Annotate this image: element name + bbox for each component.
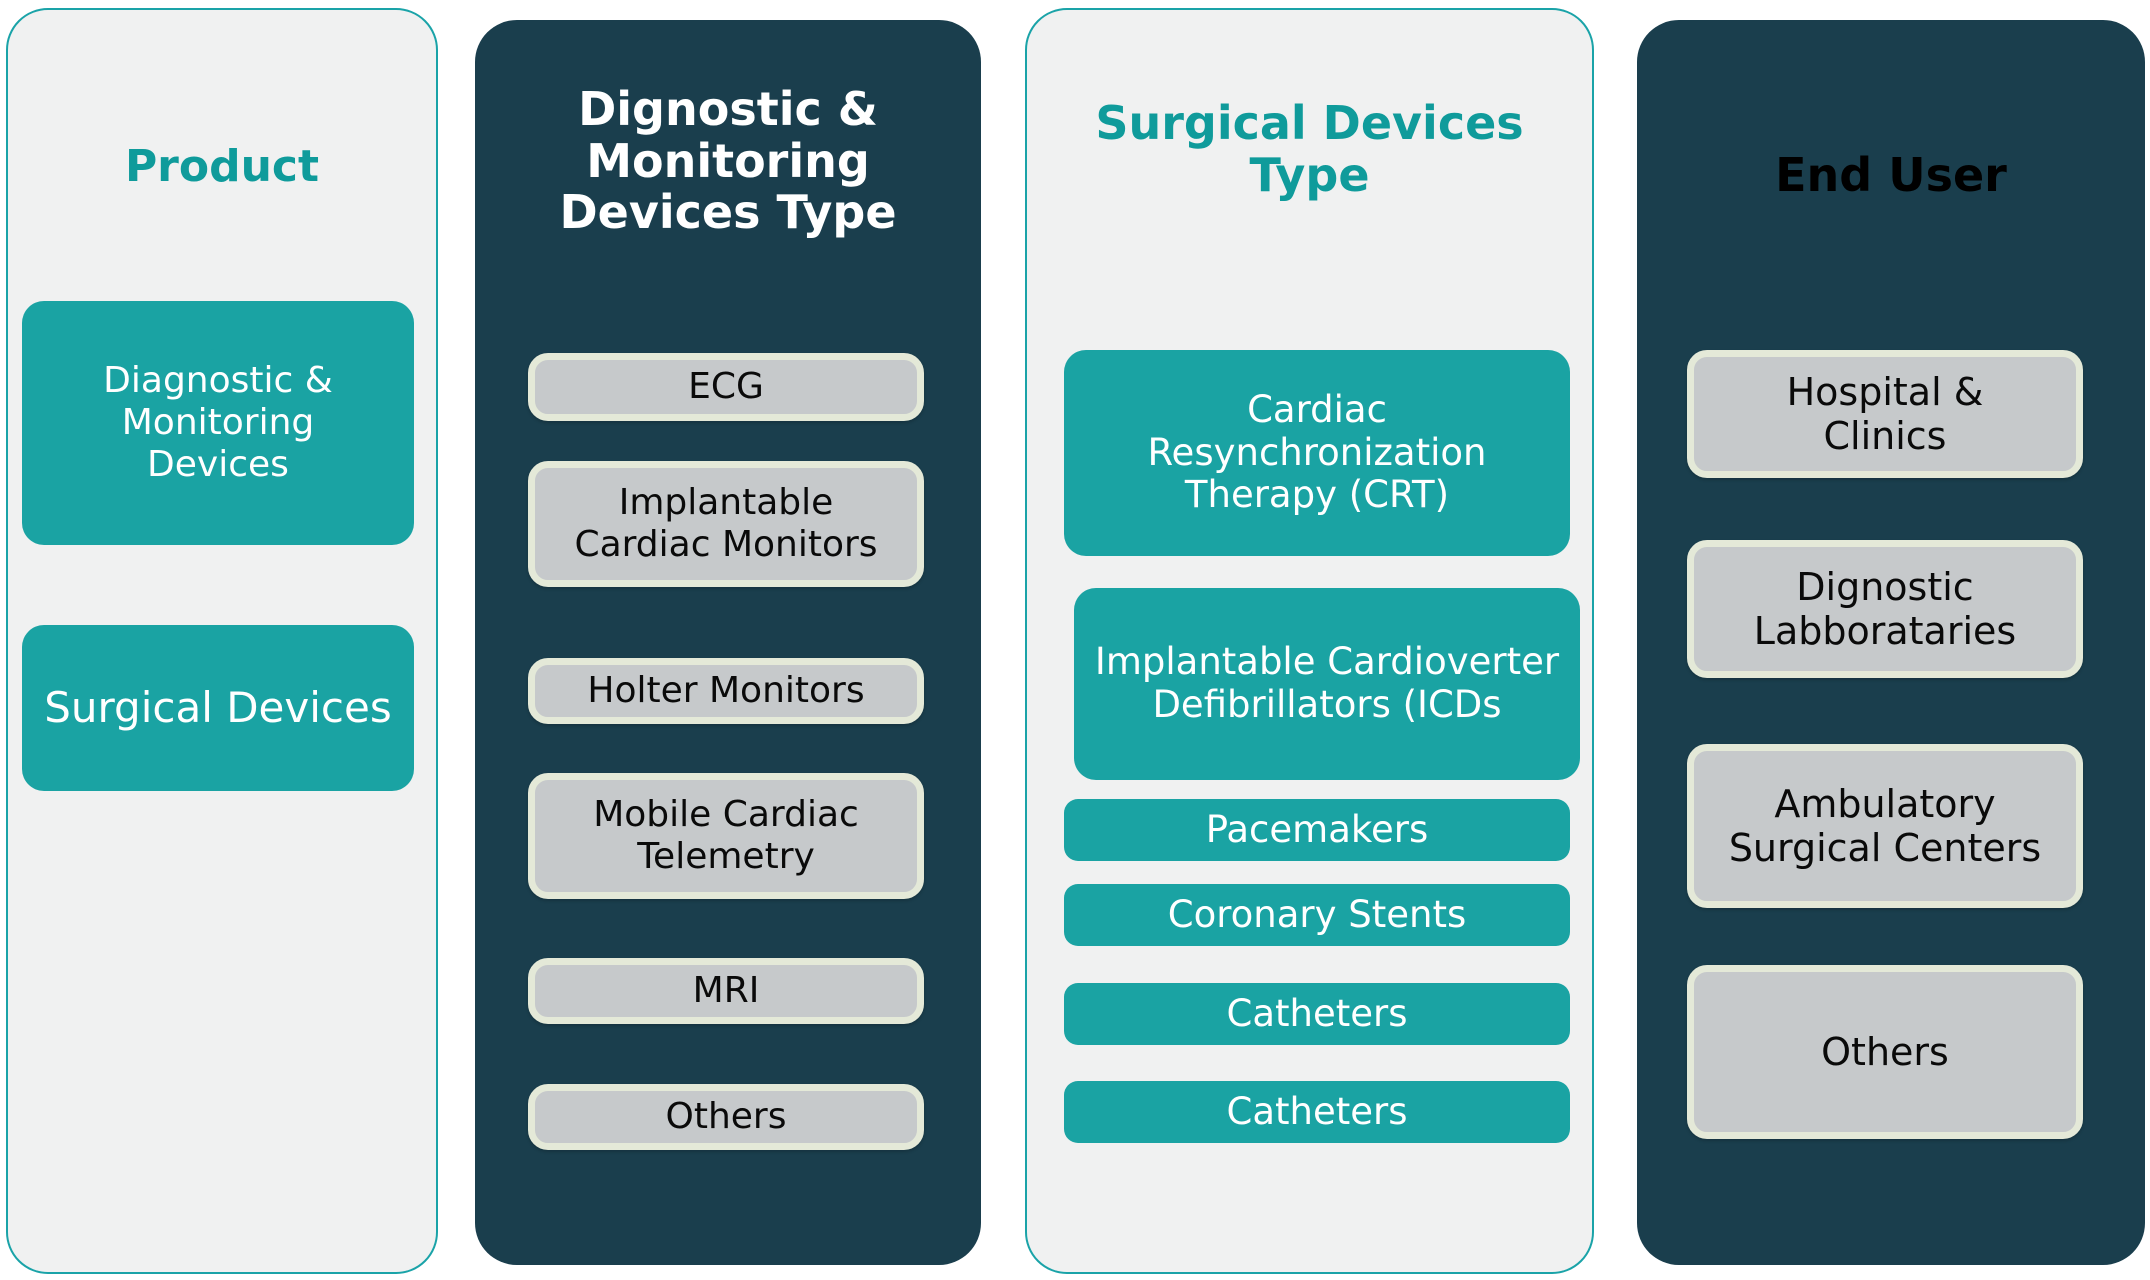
node-sdt-catheters-2[interactable]: Catheters <box>1064 1081 1570 1143</box>
node-enduser-others[interactable]: Others <box>1687 965 2083 1139</box>
node-sdt-cardiac-resynchronization-therapy[interactable]: Cardiac Resynchronization Therapy (CRT) <box>1064 350 1570 556</box>
node-dmdt-others[interactable]: Others <box>528 1084 924 1150</box>
node-sdt-implantable-cardioverter-defibrillators[interactable]: Implantable Cardioverter Defibrillators … <box>1074 588 1580 780</box>
node-sdt-coronary-stents[interactable]: Coronary Stents <box>1064 884 1570 946</box>
column-header-diagnostic-monitoring-devices-type: Dignostic & Monitoring Devices Type <box>559 84 896 239</box>
node-product-surgical-devices[interactable]: Surgical Devices <box>22 625 414 791</box>
node-enduser-ambulatory-surgical-centers[interactable]: Ambulatory Surgical Centers <box>1687 744 2083 908</box>
column-panel-diagnostic-monitoring-devices-type: Dignostic & Monitoring Devices Type <box>475 20 981 1265</box>
column-header-surgical-devices-type: Surgical Devices Type <box>1095 98 1523 201</box>
node-enduser-hospital-clinics[interactable]: Hospital & Clinics <box>1687 350 2083 478</box>
node-dmdt-ecg[interactable]: ECG <box>528 353 924 421</box>
node-dmdt-implantable-cardiac-monitors[interactable]: Implantable Cardiac Monitors <box>528 461 924 587</box>
node-enduser-dignostic-labborataries[interactable]: Dignostic Labborataries <box>1687 540 2083 678</box>
node-sdt-pacemakers[interactable]: Pacemakers <box>1064 799 1570 861</box>
column-header-end-user: End User <box>1775 150 2007 202</box>
column-header-product: Product <box>125 142 319 191</box>
node-sdt-catheters-1[interactable]: Catheters <box>1064 983 1570 1045</box>
diagram-canvas: Product Diagnostic & Monitoring Devices … <box>0 0 2150 1280</box>
node-product-diagnostic-monitoring-devices[interactable]: Diagnostic & Monitoring Devices <box>22 301 414 545</box>
node-dmdt-mri[interactable]: MRI <box>528 958 924 1024</box>
node-dmdt-mobile-cardiac-telemetry[interactable]: Mobile Cardiac Telemetry <box>528 773 924 899</box>
node-dmdt-holter-monitors[interactable]: Holter Monitors <box>528 658 924 724</box>
